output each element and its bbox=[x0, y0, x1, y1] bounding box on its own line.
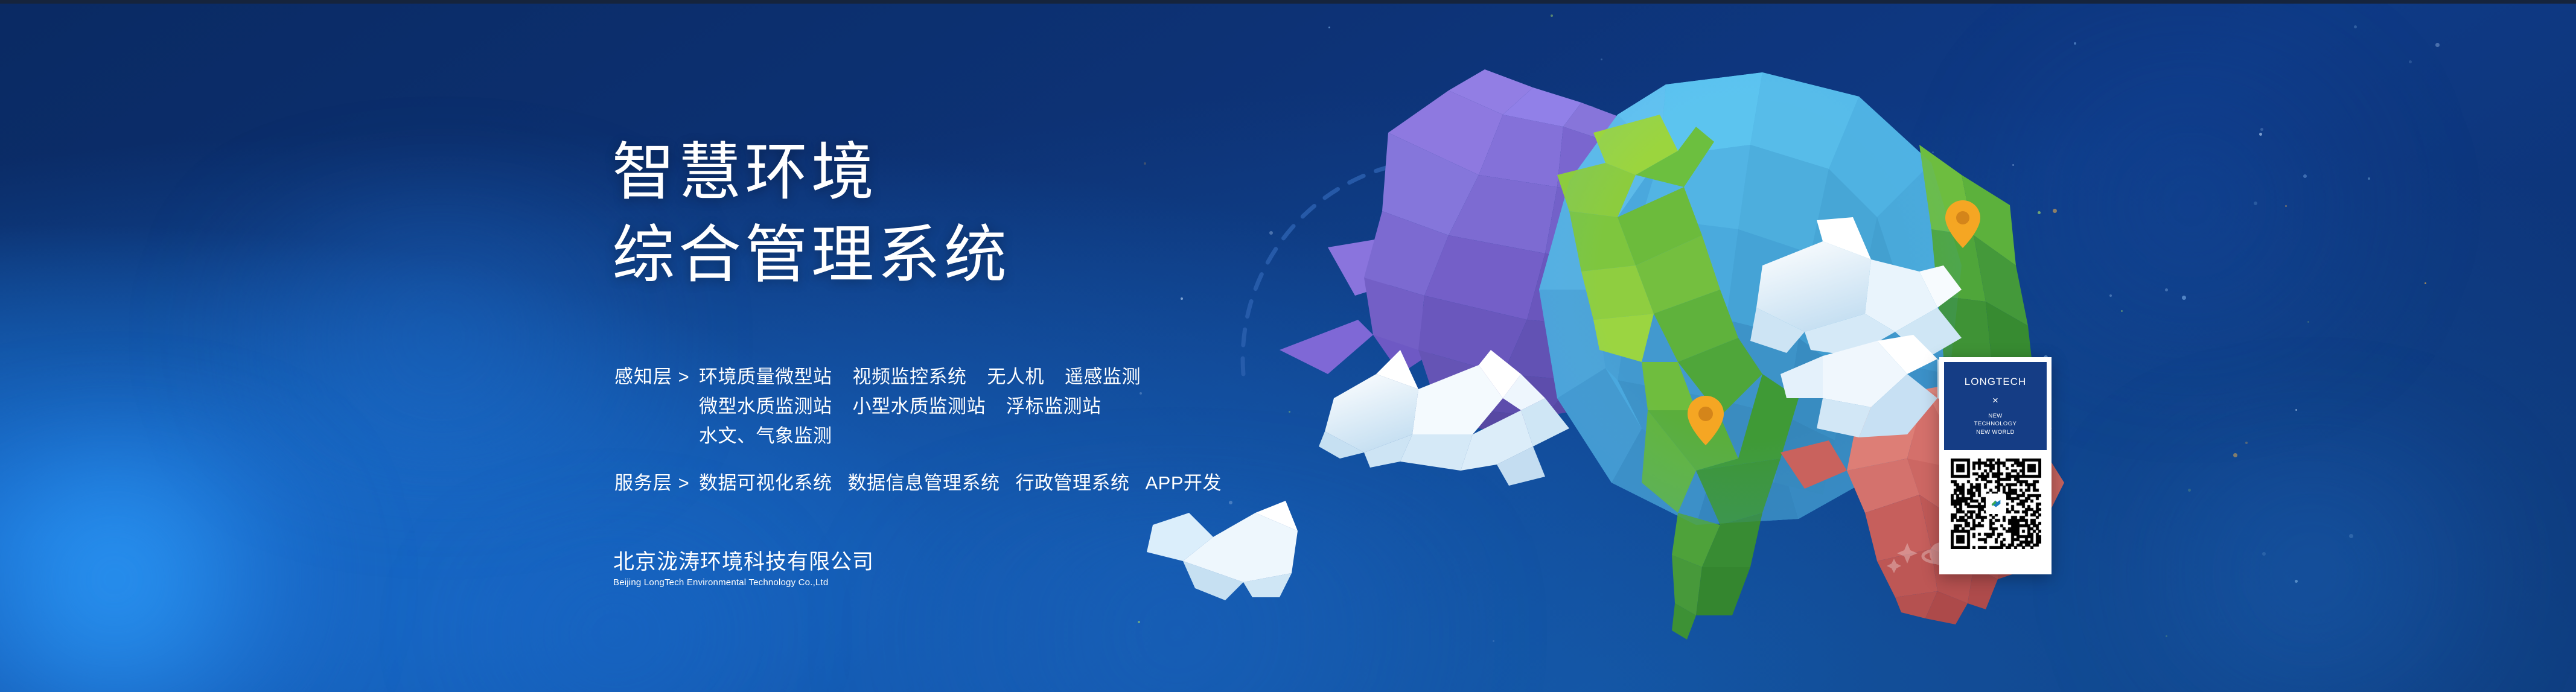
star-dot bbox=[2303, 174, 2307, 178]
service-layer-block: 服务层 > 数据可视化系统 数据信息管理系统 行政管理系统 APP开发 bbox=[614, 468, 1237, 498]
service-layer-label: 服务层 > bbox=[614, 468, 699, 498]
qr-card-tagline: NEWTECHNOLOGYNEW WORLD bbox=[1944, 412, 2047, 436]
service-layer-row: 服务层 > 数据可视化系统 数据信息管理系统 行政管理系统 APP开发 bbox=[614, 468, 1237, 498]
service-item-data-management[interactable]: 数据信息管理系统 bbox=[848, 468, 1000, 498]
qr-card-brand: LONGTECH bbox=[1944, 376, 2047, 388]
sense-layer-line-1: 环境质量微型站 视频监控系统 无人机 遥感监测 bbox=[699, 362, 1141, 392]
sense-item-uav[interactable]: 无人机 bbox=[987, 362, 1045, 392]
star-dot bbox=[2166, 635, 2167, 637]
service-layer-items: 数据可视化系统 数据信息管理系统 行政管理系统 APP开发 bbox=[699, 468, 1237, 498]
sense-layer-row: 感知层 > 环境质量微型站 视频监控系统 无人机 遥感监测 微型水质监测站 小型… bbox=[614, 362, 1141, 451]
star-dot bbox=[2349, 534, 2353, 538]
star-dot bbox=[1328, 27, 1330, 28]
qr-promo-card[interactable]: LONGTECH × NEWTECHNOLOGYNEW WORLD bbox=[1939, 357, 2052, 574]
qr-tagline-line-1: NEW bbox=[1988, 413, 2002, 419]
star-dot bbox=[2425, 282, 2426, 284]
sense-layer-items: 环境质量微型站 视频监控系统 无人机 遥感监测 微型水质监测站 小型水质监测站 … bbox=[699, 362, 1141, 451]
longtech-logo-icon bbox=[1989, 497, 2003, 510]
sense-layer-line-2: 微型水质监测站 小型水质监测站 浮标监测站 bbox=[699, 392, 1141, 421]
star-dot bbox=[2435, 43, 2440, 47]
sense-item-remote-sensing[interactable]: 遥感监测 bbox=[1065, 362, 1141, 392]
star-dot bbox=[2368, 177, 2370, 180]
service-layer-line-1: 数据可视化系统 数据信息管理系统 行政管理系统 APP开发 bbox=[699, 468, 1237, 498]
sense-item-micro-water-station[interactable]: 微型水质监测站 bbox=[699, 392, 832, 421]
star-dot bbox=[2165, 288, 2168, 291]
qr-code[interactable] bbox=[1951, 459, 2041, 549]
star-dot bbox=[2354, 25, 2357, 28]
sense-item-buoy-station[interactable]: 浮标监测站 bbox=[1006, 392, 1101, 421]
company-name-en: Beijing LongTech Environmental Technolog… bbox=[613, 577, 874, 588]
qr-center-logo bbox=[1986, 494, 2006, 514]
page-title: 智慧环境综合管理系统 bbox=[612, 132, 1010, 297]
service-item-admin-management[interactable]: 行政管理系统 bbox=[1016, 468, 1130, 498]
headline-line-2: 综合管理系统 bbox=[612, 220, 1010, 290]
sense-item-env-micro-station[interactable]: 环境质量微型站 bbox=[699, 362, 832, 392]
star-dot bbox=[2409, 60, 2412, 63]
cross-icon: × bbox=[1944, 395, 2047, 405]
qr-tagline-line-3: NEW WORLD bbox=[1976, 429, 2015, 436]
top-edge-strip bbox=[0, 0, 2576, 4]
sense-layer-label: 感知层 > bbox=[614, 362, 699, 392]
headline-line-1: 智慧环境 bbox=[612, 138, 878, 208]
promo-banner: 智慧环境综合管理系统 感知层 > 环境质量微型站 视频监控系统 无人机 遥感监测… bbox=[0, 0, 2576, 692]
service-item-data-visualization[interactable]: 数据可视化系统 bbox=[699, 468, 832, 498]
sense-item-video-monitoring[interactable]: 视频监控系统 bbox=[853, 362, 967, 392]
star-dot bbox=[1493, 640, 1494, 642]
sense-layer-line-3: 水文、气象监测 bbox=[699, 421, 1141, 451]
sense-layer-block: 感知层 > 环境质量微型站 视频监控系统 无人机 遥感监测 微型水质监测站 小型… bbox=[614, 362, 1141, 451]
company-signature: 北京泷涛环境科技有限公司 Beijing LongTech Environmen… bbox=[613, 550, 874, 588]
qr-tagline-line-2: TECHNOLOGY bbox=[1974, 421, 2017, 427]
sense-item-hydrology-meteorology[interactable]: 水文、气象监测 bbox=[699, 421, 832, 451]
company-name-cn: 北京泷涛环境科技有限公司 bbox=[613, 550, 874, 574]
star-dot bbox=[1181, 297, 1183, 300]
star-dot bbox=[2109, 294, 2112, 297]
qr-card-brand-panel: LONGTECH × NEWTECHNOLOGYNEW WORLD bbox=[1943, 361, 2047, 451]
service-item-app-development[interactable]: APP开发 bbox=[1146, 468, 1222, 498]
sense-item-small-water-station[interactable]: 小型水质监测站 bbox=[853, 392, 986, 421]
